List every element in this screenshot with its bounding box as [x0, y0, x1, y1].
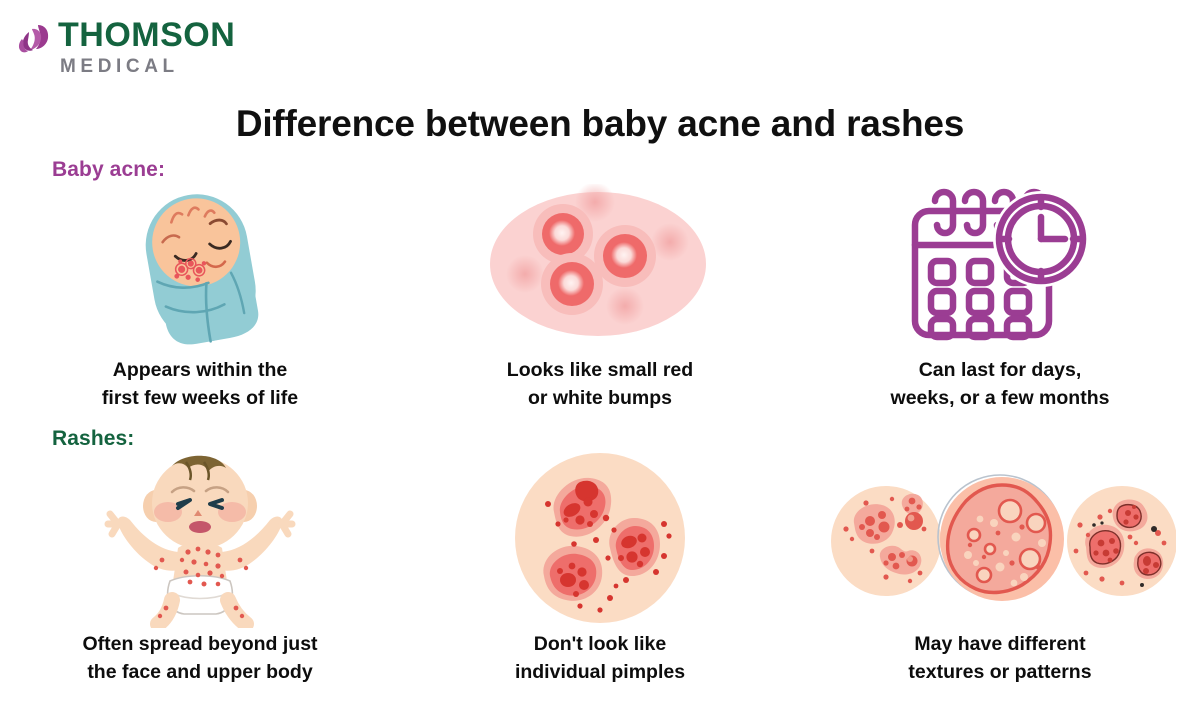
- card-caption: Appears within the first few weeks of li…: [102, 356, 298, 413]
- card-acne-appearance: Looks like small red or white bumps: [400, 178, 800, 413]
- crying-baby-with-rash-illustration: [100, 452, 300, 624]
- rash-blob-cluster-illustration: [514, 452, 686, 624]
- calendar-with-clock-icon: [907, 178, 1093, 350]
- logo-text-medical: MEDICAL: [60, 57, 235, 76]
- rashes-card-row: Often spread beyond just the face and up…: [0, 452, 1200, 687]
- card-rash-pattern: Don't look like individual pimples: [400, 452, 800, 687]
- three-rash-texture-circles-illustration: [824, 452, 1176, 624]
- card-acne-duration: Can last for days, weeks, or a few month…: [800, 178, 1200, 413]
- card-acne-onset: Appears within the first few weeks of li…: [0, 178, 400, 413]
- page-title: Difference between baby acne and rashes: [0, 103, 1200, 145]
- brand-logo: THOMSON MEDICAL: [18, 18, 235, 76]
- card-caption: May have different textures or patterns: [908, 630, 1091, 687]
- card-rash-textures: May have different textures or patterns: [800, 452, 1200, 687]
- card-caption: Often spread beyond just the face and up…: [82, 630, 317, 687]
- baby-acne-card-row: Appears within the first few weeks of li…: [0, 178, 1200, 413]
- card-caption: Don't look like individual pimples: [515, 630, 685, 687]
- butterfly-swirl-icon: [18, 22, 54, 62]
- pink-skin-patch-with-bumps-illustration: [485, 178, 715, 350]
- card-rash-spread: Often spread beyond just the face and up…: [0, 452, 400, 687]
- logo-text-thomson: THOMSON: [58, 18, 235, 52]
- card-caption: Looks like small red or white bumps: [507, 356, 693, 413]
- swaddled-baby-with-acne-illustration: [125, 178, 275, 350]
- card-caption: Can last for days, weeks, or a few month…: [891, 356, 1110, 413]
